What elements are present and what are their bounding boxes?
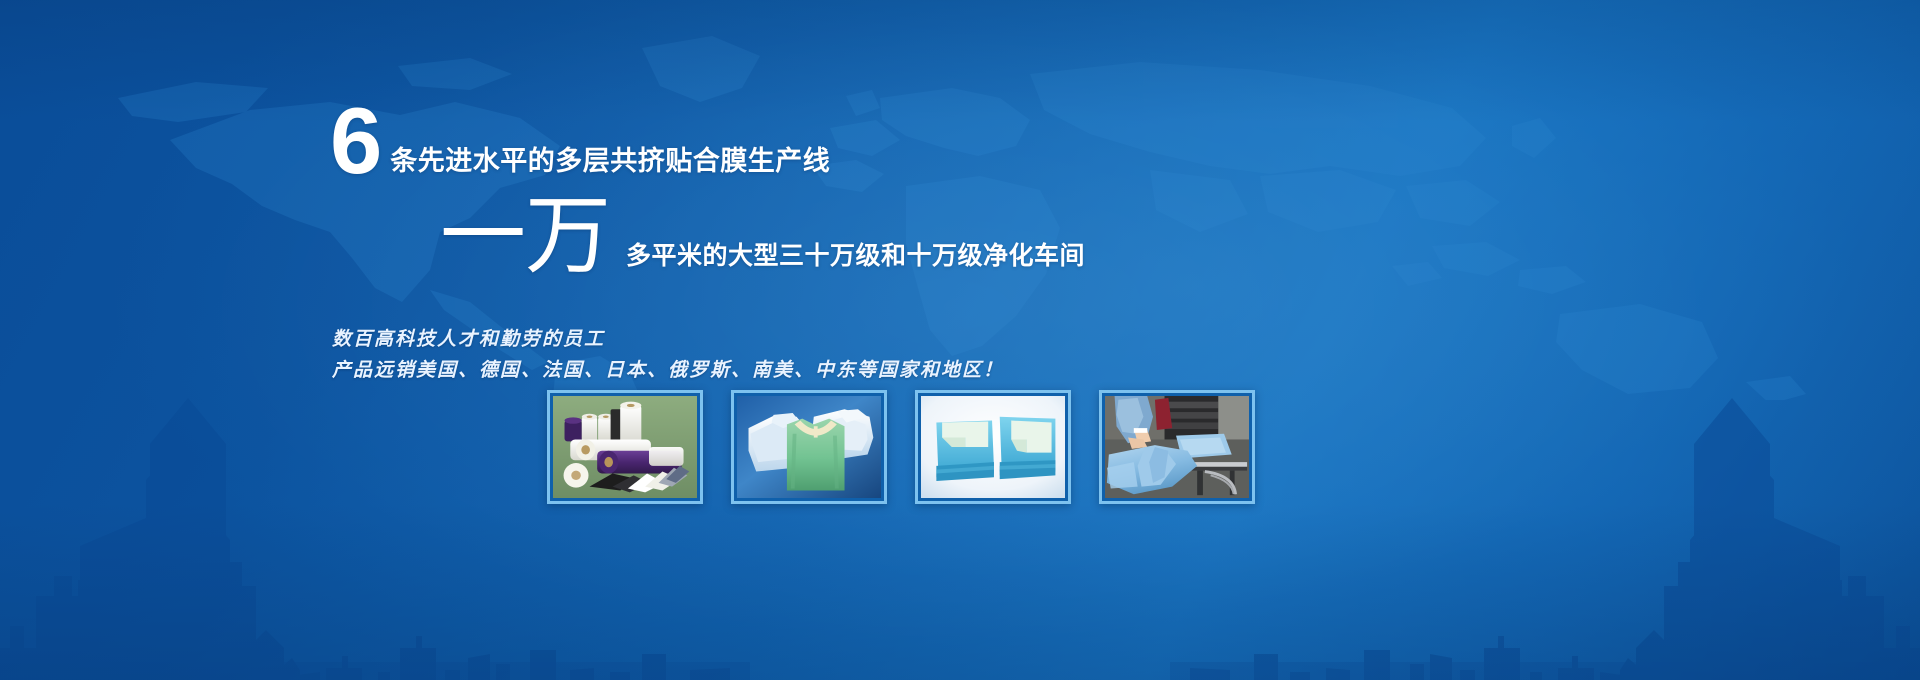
film-rolls-image xyxy=(553,396,697,498)
headline-number-ten-thousand: 一万 xyxy=(440,196,610,278)
hospital-bed-image xyxy=(1105,396,1249,498)
thumbnail-hospital-bed[interactable] xyxy=(1099,390,1255,504)
thumbnail-surgical-gowns[interactable] xyxy=(731,390,887,504)
banner-copy: 6 条先进水平的多层共挤贴合膜生产线 一万 多平米的大型三十万级和十万级净化车间… xyxy=(330,98,1480,386)
subcopy-line-export: 产品远销美国、德国、法国、日本、俄罗斯、南美、中东等国家和地区！ xyxy=(332,355,1480,386)
thumbnail-film-rolls[interactable] xyxy=(547,390,703,504)
underpads-stack-image xyxy=(921,396,1065,498)
surgical-gowns-image xyxy=(737,396,881,498)
banner-subcopy: 数百高科技人才和勤劳的员工 产品远销美国、德国、法国、日本、俄罗斯、南美、中东等… xyxy=(332,324,1480,386)
subcopy-line-staff: 数百高科技人才和勤劳的员工 xyxy=(332,324,1480,355)
promo-banner: 6 条先进水平的多层共挤贴合膜生产线 一万 多平米的大型三十万级和十万级净化车间… xyxy=(0,0,1920,680)
headline-text-production-lines: 条先进水平的多层共挤贴合膜生产线 xyxy=(390,139,830,178)
headline-clean-workshop: 一万 多平米的大型三十万级和十万级净化车间 xyxy=(440,196,1480,278)
product-thumbnail-strip xyxy=(547,390,1255,504)
thumbnail-underpads-stack[interactable] xyxy=(915,390,1071,504)
headline-production-lines: 6 条先进水平的多层共挤贴合膜生产线 xyxy=(330,98,1480,184)
city-skyline-right xyxy=(1170,380,1920,680)
headline-number-6: 6 xyxy=(330,98,380,184)
headline-text-clean-workshop: 多平米的大型三十万级和十万级净化车间 xyxy=(626,236,1085,272)
